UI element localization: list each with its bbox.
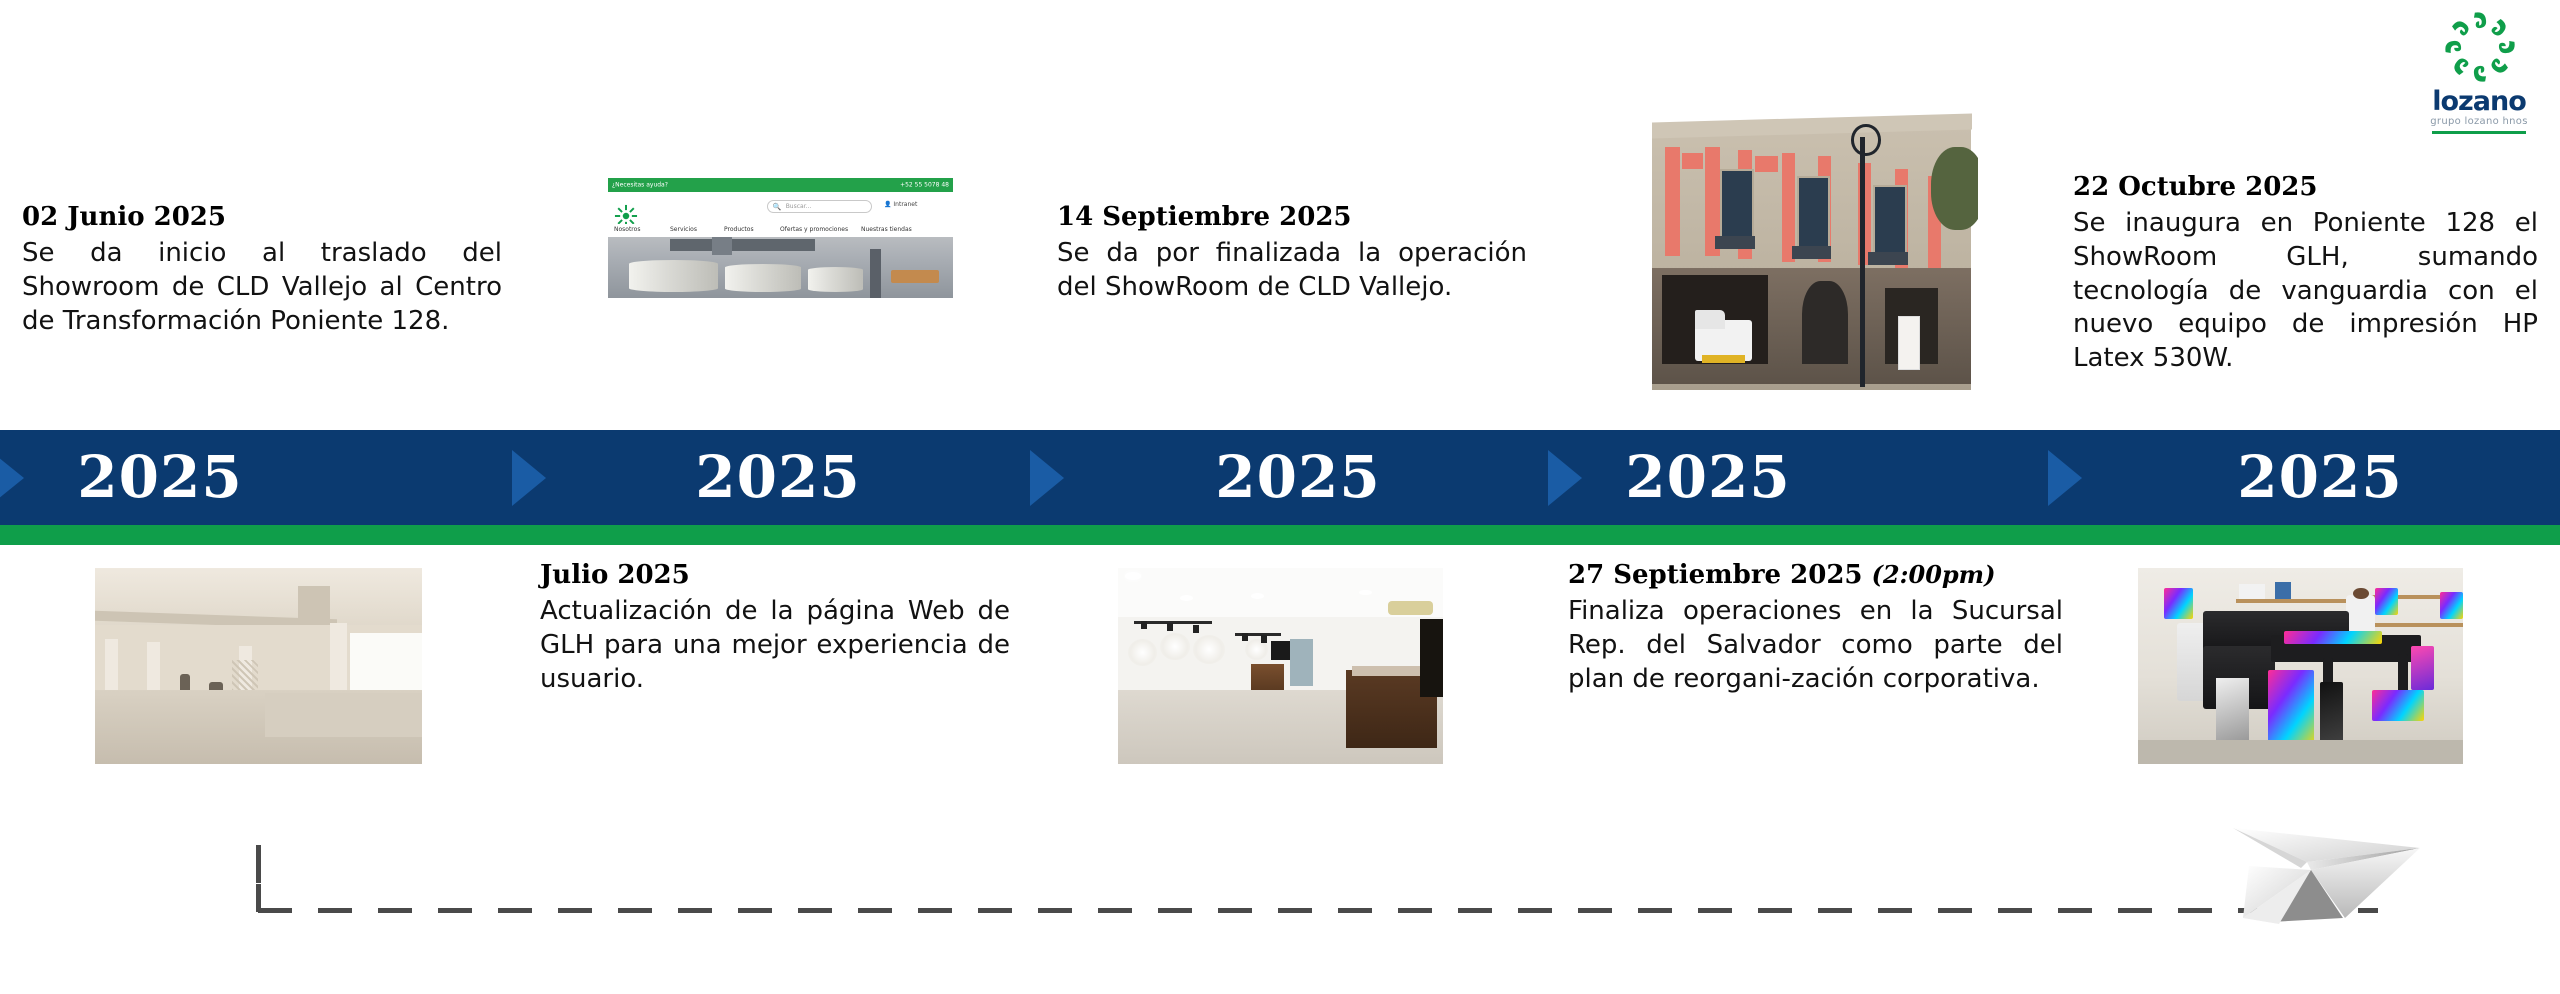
timeline-green-bar [0, 525, 2560, 545]
milestone-body-1: Se da inicio al traslado del Showroom de… [22, 237, 502, 338]
website-hero-image [608, 237, 953, 298]
website-header: 🔍 Buscar... 👤 Intranet [608, 192, 953, 223]
search-icon: 🔍 [773, 203, 782, 211]
milestone-date-5: 22 Octubre 2025 [2073, 172, 2538, 202]
paper-plane-icon [2215, 800, 2495, 930]
milestone-date-1: 02 Junio 2025 [22, 202, 502, 232]
website-help-text: ¿Necesitas ayuda? [612, 182, 668, 189]
brand-logo: lozano grupo lozano hnos [2416, 4, 2542, 144]
triangle-right-icon-3 [1548, 450, 1582, 506]
milestone-text-2: Julio 2025 Actualización de la página We… [540, 560, 1010, 696]
triangle-right-icon-4 [2048, 450, 2082, 506]
sunburst-icon [2434, 4, 2526, 90]
dashed-line [258, 908, 2378, 913]
timeline-year-2: 2025 [648, 430, 908, 525]
milestone-date-2: Julio 2025 [540, 560, 1010, 590]
website-phone: +52 55 5078 48 [900, 182, 949, 189]
timeline-band: 2025 2025 2025 2025 2025 [0, 430, 2560, 525]
milestone-date-4-text: 27 Septiembre 2025 [1568, 560, 1863, 590]
timeline-year-4: 2025 [1578, 430, 1838, 525]
website-nav-item-1[interactable]: Servicios [670, 226, 697, 233]
milestone-text-1: 02 Junio 2025 Se da inicio al traslado d… [22, 202, 502, 338]
photo-showroom [1118, 568, 1443, 764]
milestone-text-5: 22 Octubre 2025 Se inaugura en Poniente … [2073, 172, 2538, 376]
milestone-text-4: 27 Septiembre 2025 (2:00pm) Finaliza ope… [1568, 560, 2063, 696]
photo-printer [2138, 568, 2463, 764]
milestone-date-4: 27 Septiembre 2025 (2:00pm) [1568, 560, 2063, 590]
milestone-body-4: Finaliza operaciones en la Sucursal Rep.… [1568, 595, 2063, 696]
triangle-right-icon-1 [512, 450, 546, 506]
website-nav-item-3[interactable]: Ofertas y promociones [780, 226, 848, 233]
photo-website: ¿Necesitas ayuda? +52 55 5078 48 [608, 178, 953, 298]
milestone-text-3: 14 Septiembre 2025 Se da por finalizada … [1057, 202, 1527, 305]
milestone-time-4: (2:00pm) [1872, 560, 1996, 589]
website-intranet-link[interactable]: 👤 Intranet [884, 201, 917, 208]
infographic-canvas: lozano grupo lozano hnos 02 Junio 2025 S… [0, 0, 2560, 994]
website-search-placeholder: Buscar... [786, 203, 812, 210]
timeline-year-3: 2025 [1168, 430, 1428, 525]
logo-underline [2432, 131, 2526, 134]
logo-tagline: grupo lozano hnos [2416, 116, 2542, 127]
user-icon: 👤 [884, 201, 891, 208]
logo-wordmark: lozano [2416, 88, 2542, 115]
triangle-right-icon-0 [0, 444, 24, 512]
website-nav-item-2[interactable]: Productos [724, 226, 754, 233]
timeline-year-1: 2025 [30, 430, 290, 525]
triangle-right-icon-2 [1030, 450, 1064, 506]
website-nav-item-4[interactable]: Nuestras tiendas [861, 226, 912, 233]
photo-building [1645, 70, 1978, 390]
milestone-body-5: Se inaugura en Poniente 128 el ShowRoom … [2073, 207, 2538, 376]
website-nav-item-0[interactable]: Nosotros [614, 226, 640, 233]
photo-construction [95, 568, 422, 764]
dashed-tick [256, 845, 261, 883]
milestone-date-3: 14 Septiembre 2025 [1057, 202, 1527, 232]
timeline-year-5: 2025 [2190, 430, 2450, 525]
milestone-body-2: Actualización de la página Web de GLH pa… [540, 595, 1010, 696]
website-search-input[interactable]: 🔍 Buscar... [767, 200, 873, 213]
website-topbar: ¿Necesitas ayuda? +52 55 5078 48 [608, 178, 953, 192]
website-nav: Nosotros Servicios Productos Ofertas y p… [608, 224, 953, 238]
milestone-body-3: Se da por finalizada la operación del Sh… [1057, 237, 1527, 305]
